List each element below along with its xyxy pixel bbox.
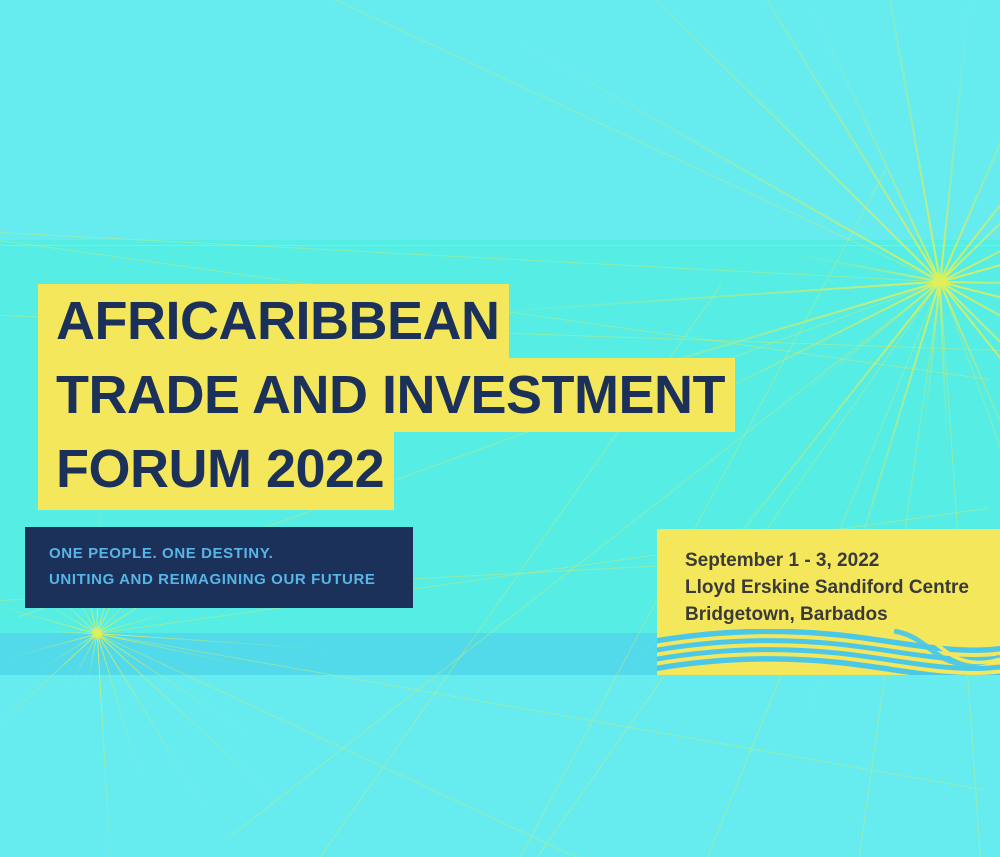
event-details-text: September 1 - 3, 2022 Lloyd Erskine Sand…	[685, 547, 969, 628]
event-title: AFRICARIBBEAN TRADE AND INVESTMENT FORUM…	[38, 284, 738, 510]
title-line-2: TRADE AND INVESTMENT	[38, 358, 735, 432]
title-line-3: FORUM 2022	[38, 432, 394, 510]
tagline-line-1: ONE PEOPLE. ONE DESTINY.	[49, 541, 413, 567]
event-date: September 1 - 3, 2022	[685, 547, 969, 574]
event-tagline: ONE PEOPLE. ONE DESTINY. UNITING AND REI…	[25, 527, 413, 608]
background-band-bottom	[0, 675, 1000, 857]
tagline-line-2: UNITING AND REIMAGINING OUR FUTURE	[49, 567, 413, 593]
event-venue: Lloyd Erskine Sandiford Centre	[685, 574, 969, 601]
title-line-1: AFRICARIBBEAN	[38, 284, 509, 358]
background-band-top	[0, 0, 1000, 240]
event-details-box: September 1 - 3, 2022 Lloyd Erskine Sand…	[657, 529, 1000, 675]
wave-pattern-icon	[657, 629, 1000, 675]
event-location: Bridgetown, Barbados	[685, 601, 969, 628]
event-banner: AFRICARIBBEAN TRADE AND INVESTMENT FORUM…	[0, 0, 1000, 857]
